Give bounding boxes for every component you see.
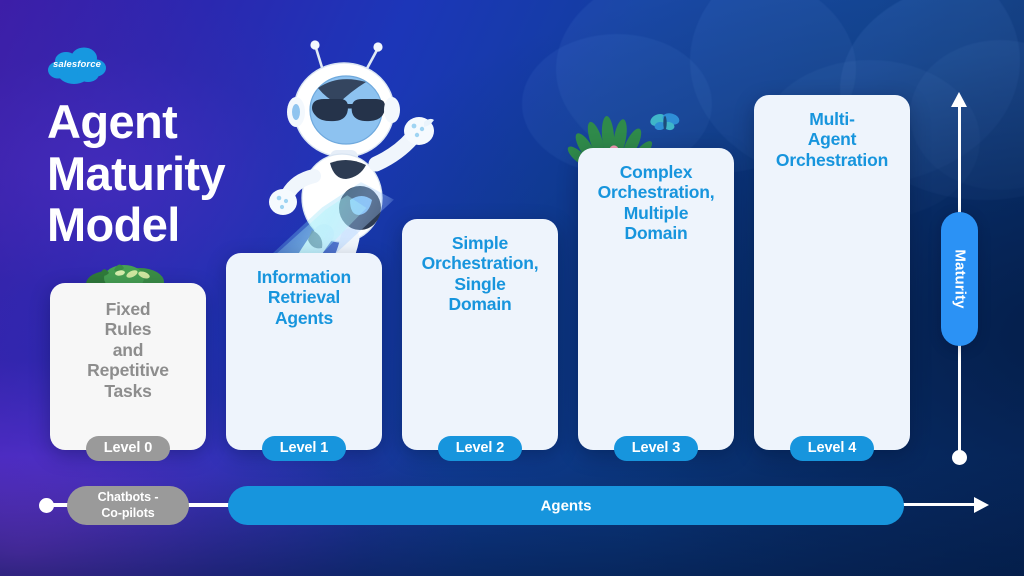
card-title-level-3: Complex Orchestration, Multiple Domain bbox=[586, 162, 726, 244]
salesforce-wordmark: salesforce bbox=[46, 59, 108, 70]
card-title-level-4: Multi- Agent Orchestration bbox=[762, 109, 902, 170]
timeline-connector-line-right bbox=[900, 503, 980, 506]
status-badge-level-2: Level 2 bbox=[438, 436, 522, 461]
maturity-card-level-0[interactable]: Fixed Rules and Repetitive Tasks Level 0 bbox=[50, 283, 206, 450]
timeline-segment-chatbots[interactable]: Chatbots - Co-pilots bbox=[67, 486, 189, 525]
timeline-chatbots-label: Chatbots - Co-pilots bbox=[98, 490, 159, 521]
maturity-card-level-3[interactable]: Complex Orchestration, Multiple Domain L… bbox=[578, 148, 734, 450]
arrow-right-icon bbox=[974, 497, 989, 513]
card-title-level-0: Fixed Rules and Repetitive Tasks bbox=[58, 299, 198, 401]
slide-canvas: salesforce Agent Maturity Model bbox=[0, 0, 1024, 576]
maturity-card-level-1[interactable]: Information Retrieval Agents Level 1 bbox=[226, 253, 382, 450]
butterfly-icon bbox=[648, 112, 682, 134]
maturity-card-level-4[interactable]: Multi- Agent Orchestration Level 4 bbox=[754, 95, 910, 450]
timeline-start-dot-icon bbox=[39, 498, 54, 513]
timeline-segment-agents[interactable]: Agents bbox=[228, 486, 904, 525]
maturity-axis-label-text: Maturity bbox=[951, 249, 968, 308]
maturity-card-level-2[interactable]: Simple Orchestration, Single Domain Leve… bbox=[402, 219, 558, 450]
salesforce-logo: salesforce bbox=[46, 46, 108, 88]
timeline-agents-label: Agents bbox=[541, 497, 592, 514]
status-badge-level-3: Level 3 bbox=[614, 436, 698, 461]
card-title-level-2: Simple Orchestration, Single Domain bbox=[410, 233, 550, 315]
card-title-level-1: Information Retrieval Agents bbox=[234, 267, 374, 328]
maturity-axis-label: Maturity bbox=[941, 212, 978, 346]
axis-endpoint-dot-icon bbox=[952, 450, 967, 465]
status-badge-level-1: Level 1 bbox=[262, 436, 346, 461]
status-badge-level-4: Level 4 bbox=[790, 436, 874, 461]
status-badge-level-0: Level 0 bbox=[86, 436, 170, 461]
